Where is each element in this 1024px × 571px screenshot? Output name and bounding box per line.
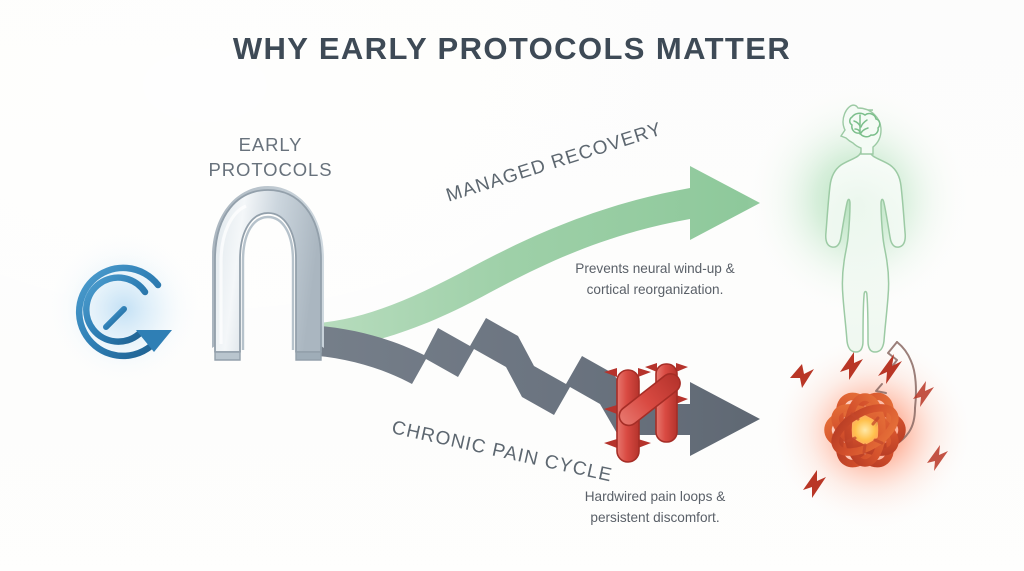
barrier-layer <box>0 0 1024 571</box>
spiked-barrier-icon <box>604 363 688 462</box>
caption-chronic-pain-cycle-line2: persistent discomfort. <box>540 507 770 528</box>
caption-chronic-pain-cycle-line1: Hardwired pain loops & <box>540 486 770 507</box>
caption-managed-recovery-line2: cortical reorganization. <box>540 279 770 300</box>
page-title: WHY EARLY PROTOCOLS MATTER <box>0 31 1024 67</box>
gate-label-line2: PROTOCOLS <box>183 157 358 182</box>
caption-managed-recovery-line1: Prevents neural wind-up & <box>540 258 770 279</box>
gate-label-line1: EARLY <box>183 132 358 157</box>
caption-managed-recovery: Prevents neural wind-up & cortical reorg… <box>540 258 770 300</box>
gate-label: EARLY PROTOCOLS <box>183 132 358 182</box>
caption-chronic-pain-cycle: Hardwired pain loops & persistent discom… <box>540 486 770 528</box>
infographic-canvas: WHY EARLY PROTOCOLS MATTER EARLY PROTOCO… <box>0 0 1024 571</box>
